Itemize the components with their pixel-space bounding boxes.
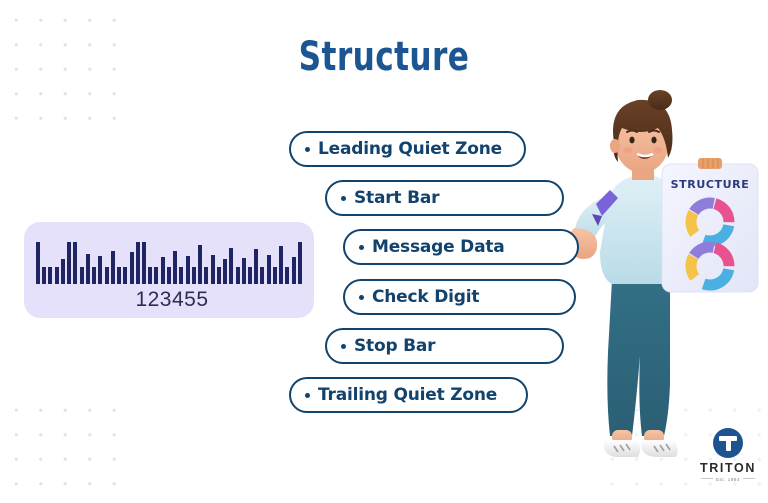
barcode-bar: [111, 251, 115, 284]
barcode-bar: [192, 267, 196, 284]
structure-item-check-digit[interactable]: Check Digit: [343, 279, 576, 315]
board-title: STRUCTURE: [671, 178, 750, 191]
barcode-number: 123455: [24, 288, 314, 312]
barcode-bar: [86, 254, 90, 284]
bullet-dot-icon: [341, 344, 346, 349]
structure-item-start-bar[interactable]: Start Bar: [325, 180, 564, 216]
barcode-bar: [148, 267, 152, 284]
structure-board: STRUCTURE: [662, 158, 758, 293]
page-title: Structure: [84, 34, 683, 80]
barcode-bar: [67, 242, 71, 284]
structure-item-trailing-quiet-zone[interactable]: Trailing Quiet Zone: [289, 377, 528, 413]
neck: [632, 168, 654, 180]
barcode-bar: [161, 257, 165, 284]
structure-item-label: Start Bar: [354, 188, 439, 208]
bullet-dot-icon: [305, 147, 310, 152]
logo-tagline-text: Est. 1984: [716, 477, 740, 482]
barcode-bar: [98, 256, 102, 284]
barcode-card: 123455: [24, 222, 314, 318]
structure-item-leading-quiet-zone[interactable]: Leading Quiet Zone: [289, 131, 526, 167]
barcode-bar: [298, 242, 302, 284]
bullet-dot-icon: [359, 245, 364, 250]
barcode-bars: [36, 242, 302, 284]
barcode-bar: [73, 242, 77, 284]
logo-name: TRITON: [697, 461, 759, 475]
barcode-bar: [273, 267, 277, 284]
barcode-bar: [279, 246, 283, 284]
structure-item-label: Stop Bar: [354, 336, 435, 356]
eye-left: [629, 137, 634, 144]
barcode-bar: [48, 267, 52, 284]
barcode-bar: [223, 259, 227, 284]
barcode-bar: [204, 267, 208, 284]
bullet-dot-icon: [359, 295, 364, 300]
eye-right: [651, 137, 656, 144]
shoe-right: [641, 440, 677, 457]
structure-item-stop-bar[interactable]: Stop Bar: [325, 328, 564, 364]
barcode-bar: [36, 242, 40, 284]
barcode-bar: [254, 249, 258, 284]
pants: [607, 280, 670, 436]
barcode-bar: [179, 267, 183, 284]
barcode-bar: [242, 258, 246, 284]
logo-tagline: Est. 1984: [697, 477, 759, 482]
barcode-bar: [55, 267, 59, 284]
bullet-dot-icon: [305, 393, 310, 398]
barcode-bar: [61, 259, 65, 284]
barcode-bar: [236, 267, 240, 284]
barcode-bar: [92, 267, 96, 284]
structure-item-label: Check Digit: [372, 287, 479, 307]
barcode-bar: [130, 252, 134, 284]
barcode-bar: [292, 257, 296, 284]
structure-item-message-data[interactable]: Message Data: [343, 229, 579, 265]
barcode-bar: [117, 267, 121, 284]
cheek-left: [623, 147, 633, 153]
poster-canvas: Structure 123455 Leading Quiet Zone Star…: [0, 0, 768, 503]
dot-grid-bottom-left: [4, 398, 124, 498]
structure-item-label: Leading Quiet Zone: [318, 139, 502, 159]
barcode-bar: [142, 242, 146, 284]
barcode-bar: [229, 248, 233, 284]
structure-item-label: Trailing Quiet Zone: [318, 385, 497, 405]
barcode-bar: [285, 267, 289, 284]
barcode-bar: [80, 267, 84, 284]
woman-with-board-illustration: STRUCTURE: [566, 84, 762, 458]
cheek-right: [653, 147, 663, 153]
barcode-bar: [173, 251, 177, 284]
hair-bun: [648, 90, 672, 110]
ear: [610, 139, 620, 153]
barcode-bar: [198, 245, 202, 284]
barcode-bar: [136, 242, 140, 284]
structure-item-label: Message Data: [372, 237, 505, 257]
barcode-bar: [167, 267, 171, 284]
barcode-bar: [105, 267, 109, 284]
barcode-bar: [217, 267, 221, 284]
bullet-dot-icon: [341, 196, 346, 201]
barcode-bar: [123, 267, 127, 284]
triton-logo: TRITON Est. 1984: [697, 428, 759, 490]
barcode-bar: [248, 267, 252, 284]
barcode-bar: [211, 255, 215, 284]
barcode-bar: [260, 267, 264, 284]
triton-monogram-icon: [713, 428, 743, 458]
barcode-bar: [186, 256, 190, 284]
barcode-bar: [42, 267, 46, 284]
barcode-bar: [267, 255, 271, 284]
barcode-bar: [154, 267, 158, 284]
